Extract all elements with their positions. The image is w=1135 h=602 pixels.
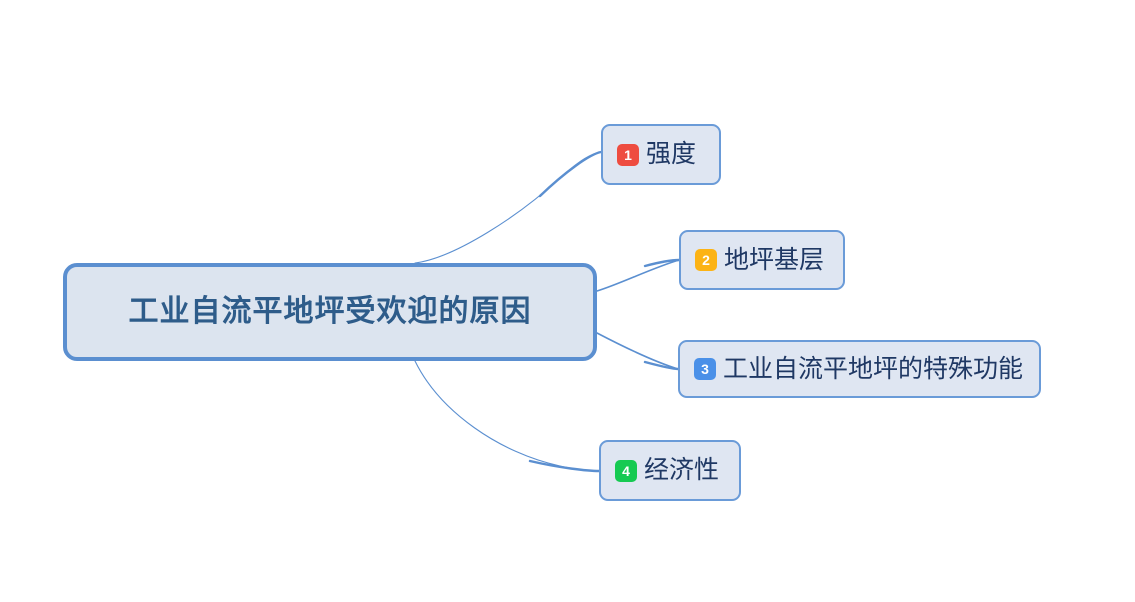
child-node-3-label: 工业自流平地坪的特殊功能: [723, 357, 1023, 382]
edge-root-to-2-thick: [645, 260, 679, 266]
child-node-1-label: 强度: [646, 142, 696, 167]
root-node-label: 工业自流平地坪受欢迎的原因: [129, 297, 532, 327]
edge-root-to-4-thick: [530, 461, 599, 471]
child-node-4[interactable]: 4 经济性: [599, 440, 741, 501]
number-badge-3: 3: [694, 358, 716, 380]
child-node-3[interactable]: 3 工业自流平地坪的特殊功能: [678, 340, 1041, 398]
edge-root-to-4: [415, 361, 599, 471]
mindmap-canvas[interactable]: 工业自流平地坪受欢迎的原因 1 强度 2 地坪基层 3 工业自流平地坪的特殊功能…: [0, 0, 1135, 602]
edge-root-to-3: [597, 333, 678, 369]
child-node-4-label: 经济性: [644, 458, 719, 483]
child-node-2[interactable]: 2 地坪基层: [679, 230, 845, 290]
edge-root-to-3-thick: [645, 362, 678, 369]
child-node-2-label: 地坪基层: [724, 248, 824, 273]
edge-root-to-1-thick: [540, 152, 601, 196]
child-node-1[interactable]: 1 强度: [601, 124, 721, 185]
number-badge-1: 1: [617, 144, 639, 166]
edge-root-to-2: [597, 260, 679, 291]
number-badge-2: 2: [695, 249, 717, 271]
edge-root-to-1: [415, 152, 601, 263]
root-node[interactable]: 工业自流平地坪受欢迎的原因: [63, 263, 597, 361]
number-badge-4: 4: [615, 460, 637, 482]
